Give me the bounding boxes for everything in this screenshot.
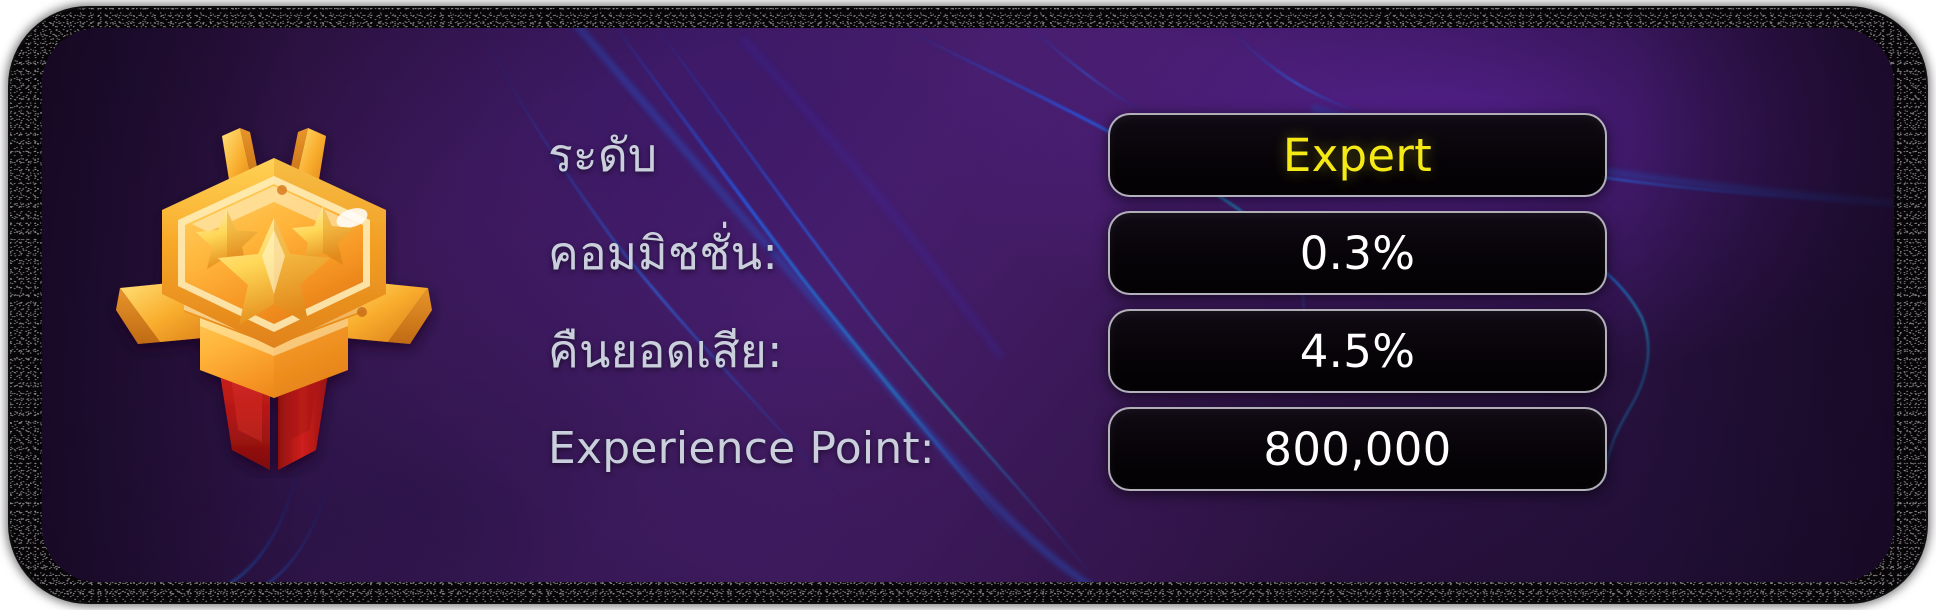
value-experience-point: 800,000 (1263, 427, 1451, 472)
value-commission: 0.3% (1300, 231, 1416, 276)
row-label-commission: คอมมิชชั่น: (548, 230, 1108, 276)
row-experience-point: Experience Point: 800,000 (548, 409, 1838, 489)
row-label-cashback: คืนยอดเสีย: (548, 328, 1108, 374)
rank-medal-badge-icon (104, 98, 444, 478)
row-label-experience-point: Experience Point: (548, 427, 1108, 471)
tier-detail-rows: ระดับ Expert คอมมิชชั่น: 0.3% คืนยอดเสีย… (548, 98, 1838, 518)
value-level: Expert (1283, 133, 1432, 178)
row-level: ระดับ Expert (548, 115, 1838, 195)
card-content: ระดับ Expert คอมมิชชั่น: 0.3% คืนยอดเสีย… (42, 28, 1894, 582)
row-cashback: คืนยอดเสีย: 4.5% (548, 311, 1838, 391)
row-commission: คอมมิชชั่น: 0.3% (548, 213, 1838, 293)
value-box-cashback[interactable]: 4.5% (1108, 309, 1607, 393)
value-cashback: 4.5% (1300, 329, 1416, 374)
value-box-experience-point[interactable]: 800,000 (1108, 407, 1607, 491)
screenshot-stage: ระดับ Expert คอมมิชชั่น: 0.3% คืนยอดเสีย… (0, 0, 1936, 610)
row-label-level: ระดับ (548, 132, 1108, 178)
rank-tier-card: ระดับ Expert คอมมิชชั่น: 0.3% คืนยอดเสีย… (42, 28, 1894, 582)
value-box-level[interactable]: Expert (1108, 113, 1607, 197)
value-box-commission[interactable]: 0.3% (1108, 211, 1607, 295)
